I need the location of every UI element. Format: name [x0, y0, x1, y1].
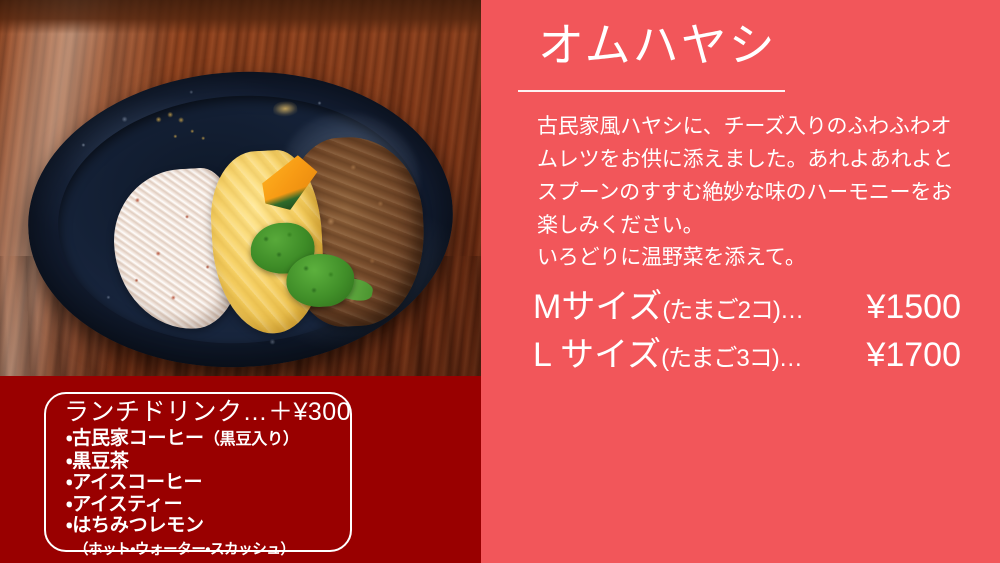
dish-sub-description: いろどりに温野菜を添えて。 [537, 243, 957, 273]
drink-label: ・古民家コーヒー [66, 428, 204, 449]
list-item: ・アイスティー [66, 494, 346, 516]
drink-sublabel: （黒豆入り） [204, 431, 299, 448]
price-list: Mサイズ (たまご2コ) … ¥1500 L サイズ (たまご3コ) … ¥17… [533, 285, 983, 381]
price-size-label: L サイズ [533, 333, 661, 377]
lunch-drink-heading: ランチドリンク…＋¥300 [64, 392, 351, 428]
list-item: ・古民家コーヒー（黒豆入り） [66, 428, 346, 451]
title-divider [518, 90, 785, 92]
drink-label: ・はちみつレモン [66, 515, 204, 536]
left-panel: ランチドリンク…＋¥300 ・古民家コーヒー（黒豆入り） ・黒豆茶 ・アイスコー… [0, 0, 481, 563]
price-amount: ¥1500 [866, 285, 983, 329]
lunch-drink-note: （ホット・ウォーター・スカッシュ） [74, 538, 346, 559]
list-item: ・黒豆茶 [66, 451, 346, 473]
price-egg-note: (たまご3コ) [661, 337, 779, 381]
dish-description: 古民家風ハヤシに、チーズ入りのふわふわオムレツをお供に添えました。あれよあれよと… [537, 110, 957, 242]
lunch-drink-box: ランチドリンク…＋¥300 ・古民家コーヒー（黒豆入り） ・黒豆茶 ・アイスコー… [44, 392, 352, 552]
drink-label: ・黒豆茶 [66, 451, 129, 472]
table-shadow-top [0, 0, 481, 34]
price-row-m: Mサイズ (たまご2コ) … ¥1500 [533, 285, 983, 333]
price-amount: ¥1700 [866, 333, 983, 377]
plate-bird-motif-icon [273, 101, 298, 120]
page-title: オムハヤシ [538, 19, 777, 72]
price-leader-dots: … [779, 337, 811, 381]
price-row-l: L サイズ (たまご3コ) … ¥1700 [533, 333, 983, 381]
detail-panel: オムハヤシ 古民家風ハヤシに、チーズ入りのふわふわオムレツをお供に添えました。あ… [481, 0, 1000, 563]
price-leader-dots: … [780, 289, 812, 333]
price-size-label: Mサイズ [533, 285, 662, 329]
dish-photo [0, 0, 481, 376]
drink-label: ・アイスティー [66, 494, 182, 515]
list-item: ・アイスコーヒー [66, 472, 346, 494]
plate-flower-motif-icon [150, 109, 218, 154]
drink-label: ・アイスコーヒー [66, 472, 202, 493]
menu-slide: ランチドリンク…＋¥300 ・古民家コーヒー（黒豆入り） ・黒豆茶 ・アイスコー… [0, 0, 1000, 563]
list-item: ・はちみつレモン [66, 515, 346, 537]
lunch-drink-list: ・古民家コーヒー（黒豆入り） ・黒豆茶 ・アイスコーヒー ・アイスティー ・はち… [66, 428, 346, 559]
price-egg-note: (たまご2コ) [662, 289, 780, 333]
